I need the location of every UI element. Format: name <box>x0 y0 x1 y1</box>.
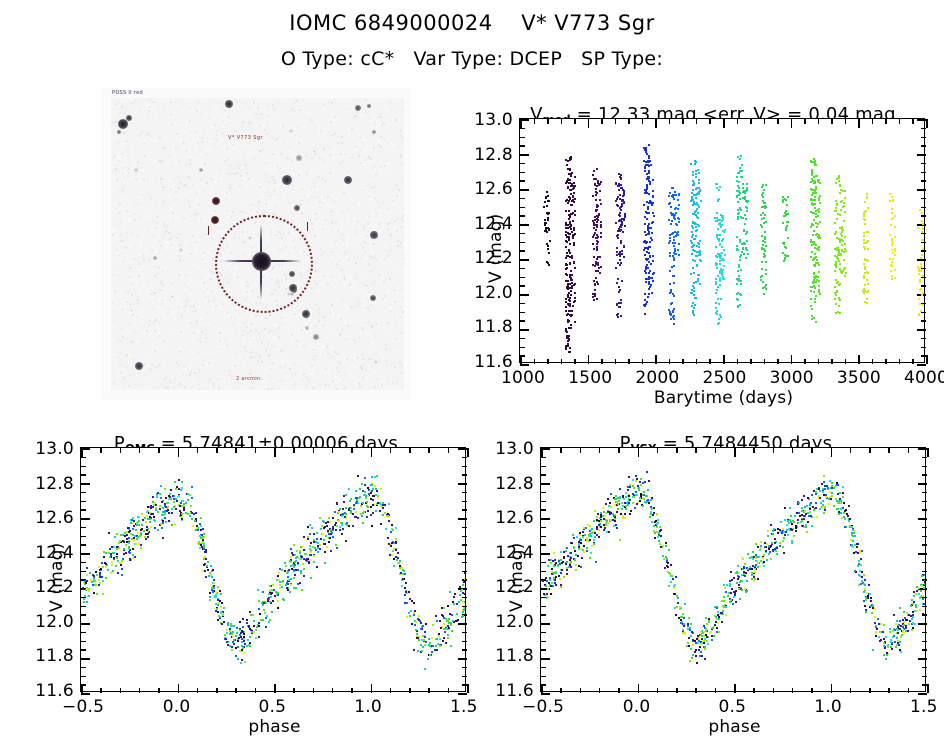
data-point <box>644 170 646 172</box>
sky-noise <box>378 140 380 142</box>
sky-noise <box>125 247 127 249</box>
data-point <box>306 558 308 560</box>
sky-noise <box>197 112 199 114</box>
sky-noise <box>351 366 353 368</box>
sky-noise <box>338 344 340 346</box>
sky-noise <box>156 362 158 364</box>
sky-noise <box>208 362 210 364</box>
sky-noise <box>387 163 389 165</box>
sky-noise <box>355 277 357 279</box>
sky-noise <box>198 384 200 386</box>
data-point <box>736 283 738 285</box>
sky-noise <box>310 330 312 332</box>
axis-tick <box>926 355 928 364</box>
data-point <box>723 265 725 267</box>
sky-noise <box>313 116 315 118</box>
data-point <box>569 305 571 307</box>
sky-noise <box>189 206 191 208</box>
data-point <box>814 253 816 255</box>
sky-noise <box>346 243 348 245</box>
data-point <box>568 239 570 241</box>
sky-noise <box>175 200 177 202</box>
sky-noise <box>163 239 165 241</box>
data-point <box>573 227 575 229</box>
field-star <box>171 295 174 298</box>
sky-noise <box>368 187 370 189</box>
sky-noise <box>232 211 234 213</box>
data-point <box>644 216 646 218</box>
sky-noise <box>233 330 235 332</box>
sky-noise <box>183 217 185 219</box>
sky-noise <box>341 136 343 138</box>
field-star <box>282 175 292 185</box>
sky-noise <box>172 154 174 156</box>
data-point <box>372 512 374 514</box>
sky-noise <box>202 350 204 352</box>
sky-noise <box>285 172 287 174</box>
sky-noise <box>153 268 155 270</box>
field-star <box>343 277 346 280</box>
sky-noise <box>251 372 253 374</box>
data-point <box>716 267 718 269</box>
data-point <box>593 256 595 258</box>
sky-noise <box>124 359 126 361</box>
sky-noise <box>195 323 197 325</box>
sky-noise <box>316 262 318 264</box>
sky-noise <box>389 222 391 224</box>
sky-noise <box>217 318 219 320</box>
data-point <box>891 240 893 242</box>
sky-noise <box>357 326 359 328</box>
sky-noise <box>389 371 391 373</box>
data-point <box>783 260 785 262</box>
sky-noise <box>287 327 289 329</box>
sky-noise <box>368 249 370 251</box>
data-point <box>431 637 433 639</box>
sky-noise <box>327 145 329 147</box>
sky-noise <box>309 198 311 200</box>
sky-noise <box>345 135 347 137</box>
data-point <box>743 229 745 231</box>
sky-noise <box>265 173 267 175</box>
sky-noise <box>245 150 247 152</box>
sky-noise <box>331 346 333 348</box>
sky-noise <box>177 277 179 279</box>
data-point <box>566 181 568 183</box>
data-point <box>674 242 676 244</box>
sky-noise <box>318 383 320 385</box>
sky-noise <box>114 130 116 132</box>
sky-noise <box>119 208 121 210</box>
sky-noise <box>385 348 387 350</box>
sky-noise <box>175 312 177 314</box>
sky-noise <box>333 120 335 122</box>
sky-noise <box>301 329 303 331</box>
y-tick-label: 11.8 <box>474 317 513 337</box>
sky-noise <box>161 282 163 284</box>
data-point <box>375 510 377 512</box>
data-point <box>103 556 105 558</box>
data-point <box>648 157 650 159</box>
sky-noise <box>272 362 274 364</box>
data-point <box>301 589 303 591</box>
sky-noise <box>284 365 286 367</box>
sky-noise <box>119 203 121 205</box>
sky-noise <box>167 225 169 227</box>
sky-noise <box>164 103 166 105</box>
sky-noise <box>142 183 144 185</box>
data-point <box>864 259 866 261</box>
sky-noise <box>301 212 303 214</box>
sky-noise <box>362 141 364 143</box>
data-point <box>698 182 700 184</box>
sky-noise <box>176 133 178 135</box>
sky-noise <box>235 153 237 155</box>
sky-noise <box>162 202 164 204</box>
data-point <box>691 199 693 201</box>
sky-noise <box>116 179 118 181</box>
sky-noise <box>193 106 195 108</box>
sky-noise <box>172 212 174 214</box>
sky-noise <box>355 99 357 101</box>
field-star <box>336 249 339 252</box>
sky-noise <box>179 259 181 261</box>
data-point <box>891 265 893 267</box>
sky-noise <box>353 358 355 360</box>
sky-noise <box>344 375 346 377</box>
sky-noise <box>233 132 235 134</box>
sky-noise <box>389 139 391 141</box>
sky-noise <box>192 377 194 379</box>
sky-noise <box>154 352 156 354</box>
sky-noise <box>140 338 142 340</box>
sky-noise <box>236 101 238 103</box>
sky-noise <box>365 369 367 371</box>
data-point <box>891 212 893 214</box>
sky-noise <box>280 138 282 140</box>
sky-noise <box>285 382 287 384</box>
sky-noise <box>192 184 194 186</box>
data-point <box>696 229 698 231</box>
data-point <box>621 187 623 189</box>
sky-noise <box>209 247 211 249</box>
sky-noise <box>197 213 199 215</box>
data-point <box>765 269 767 271</box>
sky-noise <box>124 266 126 268</box>
sky-noise <box>311 223 313 225</box>
sky-noise <box>136 264 138 266</box>
sky-noise <box>368 257 370 259</box>
axis-tick <box>917 364 926 366</box>
x-tick-label: 2000 <box>635 368 679 388</box>
sky-noise <box>386 127 388 129</box>
sky-noise <box>140 283 142 285</box>
sky-noise <box>334 244 336 246</box>
sky-noise <box>120 233 122 235</box>
data-point <box>617 313 619 315</box>
sky-noise <box>267 335 269 337</box>
sky-noise <box>126 160 128 162</box>
data-point <box>548 252 550 254</box>
sky-noise <box>175 191 177 193</box>
data-point <box>691 197 693 199</box>
sky-noise <box>311 138 313 140</box>
sky-noise <box>180 373 182 375</box>
data-point <box>722 217 724 219</box>
sky-noise <box>190 156 192 158</box>
sky-noise <box>369 195 371 197</box>
data-point <box>836 291 838 293</box>
sky-noise <box>402 114 404 116</box>
data-point <box>761 226 763 228</box>
sky-noise <box>353 339 355 341</box>
data-point <box>125 552 127 554</box>
sky-noise <box>303 126 305 128</box>
sky-noise <box>261 155 263 157</box>
data-point <box>646 153 648 155</box>
sky-noise <box>317 290 319 292</box>
data-point <box>384 512 386 514</box>
x-axis-title: Barytime (days) <box>522 388 925 408</box>
sky-noise <box>251 325 253 327</box>
data-point <box>571 200 573 202</box>
data-point <box>920 263 922 265</box>
sky-noise <box>321 131 323 133</box>
sky-noise <box>228 173 230 175</box>
sky-noise <box>402 236 404 238</box>
sky-noise <box>350 306 352 308</box>
sky-noise <box>143 364 145 366</box>
sky-noise <box>158 267 160 269</box>
sky-noise <box>233 310 235 312</box>
sky-noise <box>162 169 164 171</box>
data-point <box>623 256 625 258</box>
sky-noise <box>387 196 389 198</box>
sky-noise <box>385 208 387 210</box>
sky-noise <box>186 300 188 302</box>
data-point <box>620 315 622 317</box>
data-point <box>762 184 764 186</box>
data-point <box>894 254 896 256</box>
data-point <box>762 196 764 198</box>
sky-noise <box>149 320 151 322</box>
sky-noise <box>326 337 328 339</box>
sky-noise <box>239 164 241 166</box>
sky-noise <box>231 196 233 198</box>
sky-noise <box>353 116 355 118</box>
sky-noise <box>367 221 369 223</box>
data-point <box>671 233 673 235</box>
sky-noise <box>324 252 326 254</box>
sky-noise <box>343 192 345 194</box>
sky-noise <box>331 161 333 163</box>
sky-noise <box>149 213 151 215</box>
data-point <box>695 176 697 178</box>
sky-noise <box>179 288 181 290</box>
sky-noise <box>200 366 202 368</box>
sky-noise <box>142 228 144 230</box>
sky-noise <box>204 221 206 223</box>
sky-noise <box>179 233 181 235</box>
field-star <box>180 183 183 186</box>
data-point <box>717 228 719 230</box>
data-point <box>763 253 765 255</box>
sky-noise <box>386 160 388 162</box>
data-point <box>765 284 767 286</box>
sky-noise <box>150 293 152 295</box>
data-point <box>368 493 370 495</box>
sky-noise <box>314 191 316 193</box>
sky-noise <box>244 142 246 144</box>
sky-noise <box>254 158 256 160</box>
sky-noise <box>384 260 386 262</box>
sky-noise <box>139 263 141 265</box>
sky-noise <box>209 227 211 229</box>
data-point <box>619 259 621 261</box>
sky-noise <box>317 239 319 241</box>
sky-noise <box>371 326 373 328</box>
data-point <box>566 252 568 254</box>
sky-noise <box>185 164 187 166</box>
sky-noise <box>118 139 120 141</box>
sky-noise <box>154 220 156 222</box>
sky-noise <box>198 310 200 312</box>
sky-noise <box>239 312 241 314</box>
sky-noise <box>351 128 353 130</box>
data-point <box>892 217 894 219</box>
sky-noise <box>140 287 142 289</box>
data-point <box>764 255 766 257</box>
sky-noise <box>113 149 115 151</box>
sky-noise <box>169 299 171 301</box>
data-point <box>646 164 648 166</box>
data-point <box>620 184 622 186</box>
sky-noise <box>178 119 180 121</box>
sky-noise <box>251 200 253 202</box>
sky-noise <box>206 182 208 184</box>
sky-noise <box>249 142 251 144</box>
data-point <box>675 194 677 196</box>
sky-noise <box>314 285 316 287</box>
sky-noise <box>189 163 191 165</box>
data-point <box>862 290 864 292</box>
data-point <box>677 234 679 236</box>
sky-noise <box>338 235 340 237</box>
sky-noise <box>160 260 162 262</box>
sky-noise <box>235 307 237 309</box>
sky-noise <box>294 372 296 374</box>
sky-noise <box>313 364 315 366</box>
sky-noise <box>369 183 371 185</box>
field-star <box>179 248 182 251</box>
sky-noise <box>189 159 191 161</box>
sky-noise <box>379 375 381 377</box>
data-point <box>621 253 623 255</box>
sky-noise <box>137 235 139 237</box>
sky-noise <box>275 115 277 117</box>
sky-noise <box>211 345 213 347</box>
sky-noise <box>371 187 373 189</box>
sky-noise <box>394 301 396 303</box>
data-point <box>220 593 222 595</box>
sky-noise <box>290 119 292 121</box>
sky-noise <box>161 118 163 120</box>
sky-noise <box>376 378 378 380</box>
sky-noise <box>185 375 187 377</box>
sky-noise <box>397 266 399 268</box>
sky-noise <box>224 160 226 162</box>
sky-noise <box>278 327 280 329</box>
sky-noise <box>256 131 258 133</box>
sky-noise <box>363 290 365 292</box>
sky-noise <box>336 139 338 141</box>
sky-noise <box>300 204 302 206</box>
sky-noise <box>322 228 324 230</box>
data-point <box>649 256 651 258</box>
data-point <box>834 270 836 272</box>
data-point <box>918 314 920 316</box>
sky-noise <box>249 341 251 343</box>
data-point <box>866 197 868 199</box>
sky-noise <box>122 372 124 374</box>
data-point <box>715 307 717 309</box>
data-point <box>309 554 311 556</box>
data-point <box>723 259 725 261</box>
data-point <box>697 224 699 226</box>
sky-noise <box>355 262 357 264</box>
sky-noise <box>233 324 235 326</box>
sky-noise <box>126 201 128 203</box>
sky-noise <box>246 172 248 174</box>
sky-noise <box>185 150 187 152</box>
sky-noise <box>135 190 137 192</box>
sky-noise <box>123 176 125 178</box>
data-point <box>592 174 594 176</box>
data-point <box>428 638 430 640</box>
data-point <box>719 280 721 282</box>
data-point <box>596 281 598 283</box>
sky-noise <box>344 214 346 216</box>
sky-noise <box>172 300 174 302</box>
data-point <box>736 196 738 198</box>
data-point <box>619 194 621 196</box>
sky-noise <box>315 304 317 306</box>
sky-noise <box>272 330 274 332</box>
sky-noise <box>117 306 119 308</box>
sky-noise <box>268 375 270 377</box>
data-point <box>698 187 700 189</box>
sky-noise <box>193 207 195 209</box>
sky-noise <box>230 380 232 382</box>
sky-noise <box>238 389 240 390</box>
sky-noise <box>269 314 271 316</box>
data-point <box>744 243 746 245</box>
sky-noise <box>386 170 388 172</box>
data-point <box>274 595 276 597</box>
sky-noise <box>151 302 153 304</box>
sky-noise <box>143 347 145 349</box>
data-point <box>300 572 302 574</box>
data-point <box>134 535 136 537</box>
data-point <box>673 282 675 284</box>
data-point <box>652 190 654 192</box>
sky-noise <box>130 178 132 180</box>
sky-noise <box>230 124 232 126</box>
data-point <box>200 525 202 527</box>
sky-noise <box>267 116 269 118</box>
sky-noise <box>143 300 145 302</box>
sky-noise <box>361 205 363 207</box>
